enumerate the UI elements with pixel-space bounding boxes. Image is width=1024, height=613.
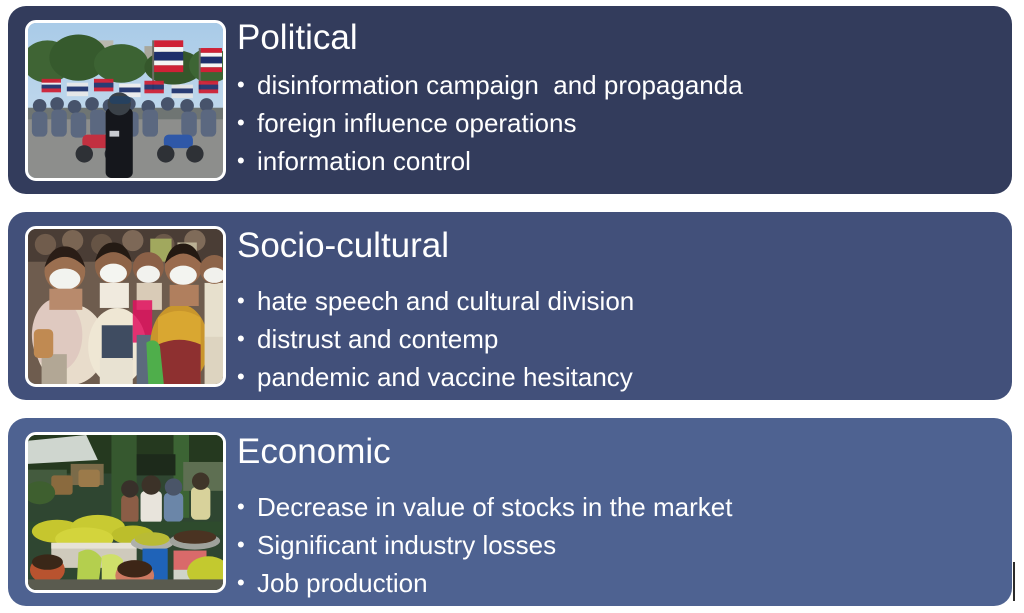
bullet-item: hate speech and cultural division [237, 282, 1000, 320]
bullet-item: foreign influence operations [237, 104, 1000, 142]
bullet-item: Job production [237, 564, 1000, 602]
card-economic-content: Economic Decrease in value of stocks in … [237, 426, 1000, 602]
political-protest-photo [25, 20, 226, 181]
card-title-political: Political [237, 16, 1000, 60]
bullet-item: information control [237, 142, 1000, 180]
card-socio-cultural-content: Socio-cultural hate speech and cultural … [237, 220, 1000, 396]
bullet-list-socio-cultural: hate speech and cultural division distru… [237, 282, 1000, 396]
bullet-item: Decrease in value of stocks in the marke… [237, 488, 1000, 526]
bullet-list-political: disinformation campaign and propaganda f… [237, 66, 1000, 180]
slide-canvas: Political disinformation campaign and pr… [0, 0, 1024, 613]
bullet-list-economic: Decrease in value of stocks in the marke… [237, 488, 1000, 602]
bullet-item: pandemic and vaccine hesitancy [237, 358, 1000, 396]
card-title-economic: Economic [237, 430, 1000, 474]
bullet-item: disinformation campaign and propaganda [237, 66, 1000, 104]
bullet-item: distrust and contemp [237, 320, 1000, 358]
card-economic[interactable]: Economic Decrease in value of stocks in … [8, 418, 1012, 606]
text-cursor [1013, 562, 1015, 601]
bullet-item: Significant industry losses [237, 526, 1000, 564]
masked-crowd-photo [25, 226, 226, 387]
card-political-content: Political disinformation campaign and pr… [237, 14, 1000, 180]
card-socio-cultural[interactable]: Socio-cultural hate speech and cultural … [8, 212, 1012, 400]
market-stall-photo [25, 432, 226, 593]
card-political[interactable]: Political disinformation campaign and pr… [8, 6, 1012, 194]
card-title-socio-cultural: Socio-cultural [237, 224, 1000, 268]
